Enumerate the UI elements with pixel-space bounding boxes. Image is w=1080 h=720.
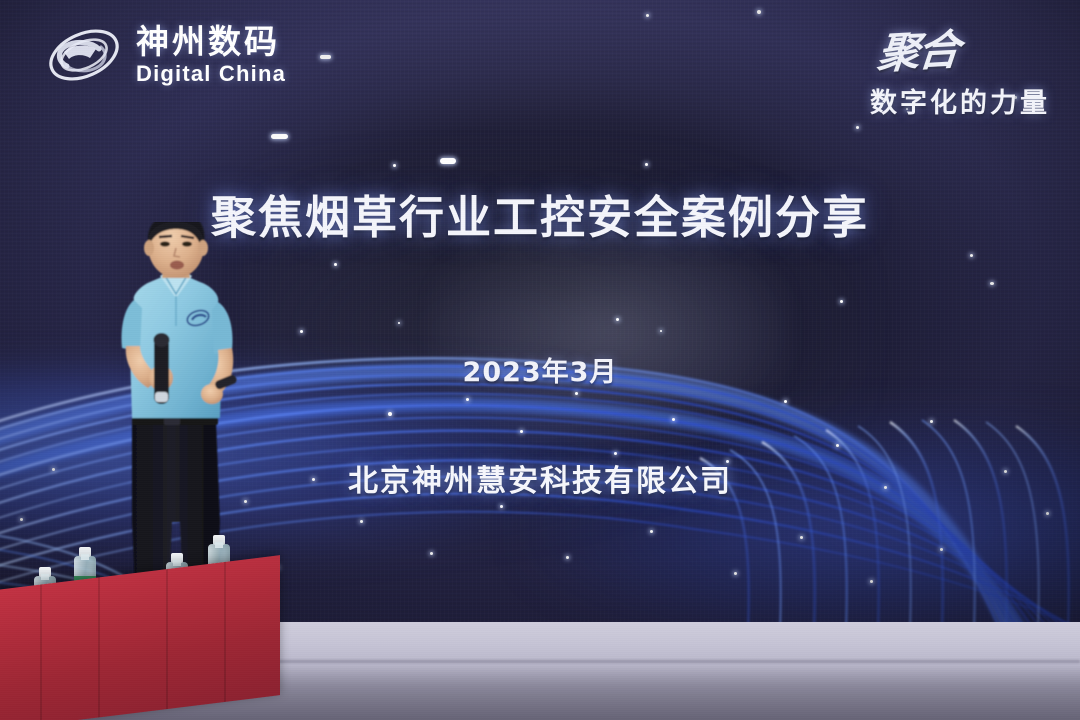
brand-name-en: Digital China <box>136 63 286 85</box>
swirl-spiral-icon <box>44 22 124 88</box>
brand-logo: 神州数码 Digital China <box>44 22 286 88</box>
brand-name-cn: 神州数码 <box>136 25 286 58</box>
event-mark: 聚合 数字化的力量 <box>870 18 1050 120</box>
microphone-icon <box>154 333 170 404</box>
conference-stage-photo: 神州数码 Digital China 聚合 数字化的力量 聚焦烟草行业工控安全案… <box>0 0 1080 720</box>
event-subtitle: 数字化的力量 <box>870 81 1050 120</box>
event-calligraphy: 聚合 <box>875 16 961 81</box>
